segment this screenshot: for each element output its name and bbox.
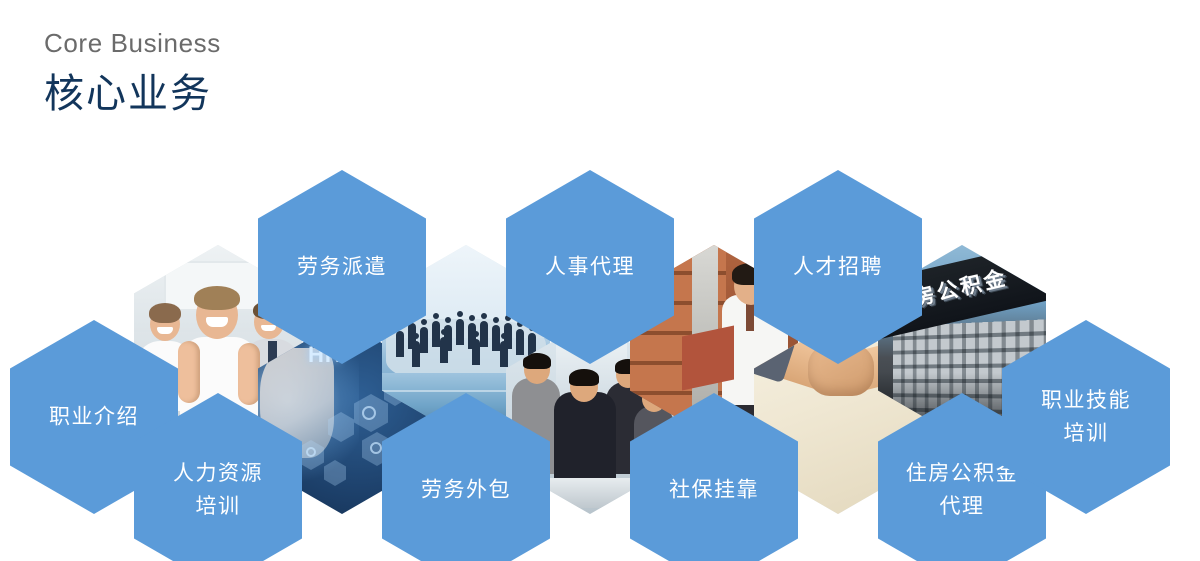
silhouette-figure — [440, 337, 448, 363]
hex-label-text: 人事代理 — [506, 251, 674, 284]
silhouette-figure — [516, 329, 524, 355]
silhouette-figure — [432, 321, 440, 347]
silhouette-figure — [420, 327, 428, 353]
hex-label-text: 人力资源 培训 — [134, 457, 302, 523]
hex-label-text: 职业技能 培训 — [1002, 384, 1170, 450]
silhouette-figure — [492, 325, 500, 351]
hex-label-text: 社保挂靠 — [630, 474, 798, 507]
hex-label-text: 劳务外包 — [382, 474, 550, 507]
hex-label-text: 劳务派遣 — [258, 251, 426, 284]
silhouette-figure — [456, 319, 464, 345]
silhouette-figure — [396, 331, 404, 357]
silhouette-figure — [500, 341, 508, 367]
hex-label-text: 人才招聘 — [754, 251, 922, 284]
hexagon-grid: HR 住房公积金 职业介绍劳务派遣人力资源 培训人事代理劳务外包人才招聘社保挂靠… — [0, 0, 1200, 561]
hex-label-text: 职业介绍 — [10, 401, 178, 434]
core-business-section: Core Business 核心业务 HR — [0, 0, 1200, 561]
silhouette-figure — [472, 339, 480, 365]
silhouette-figure — [480, 321, 488, 347]
silhouette-figure — [412, 341, 420, 367]
